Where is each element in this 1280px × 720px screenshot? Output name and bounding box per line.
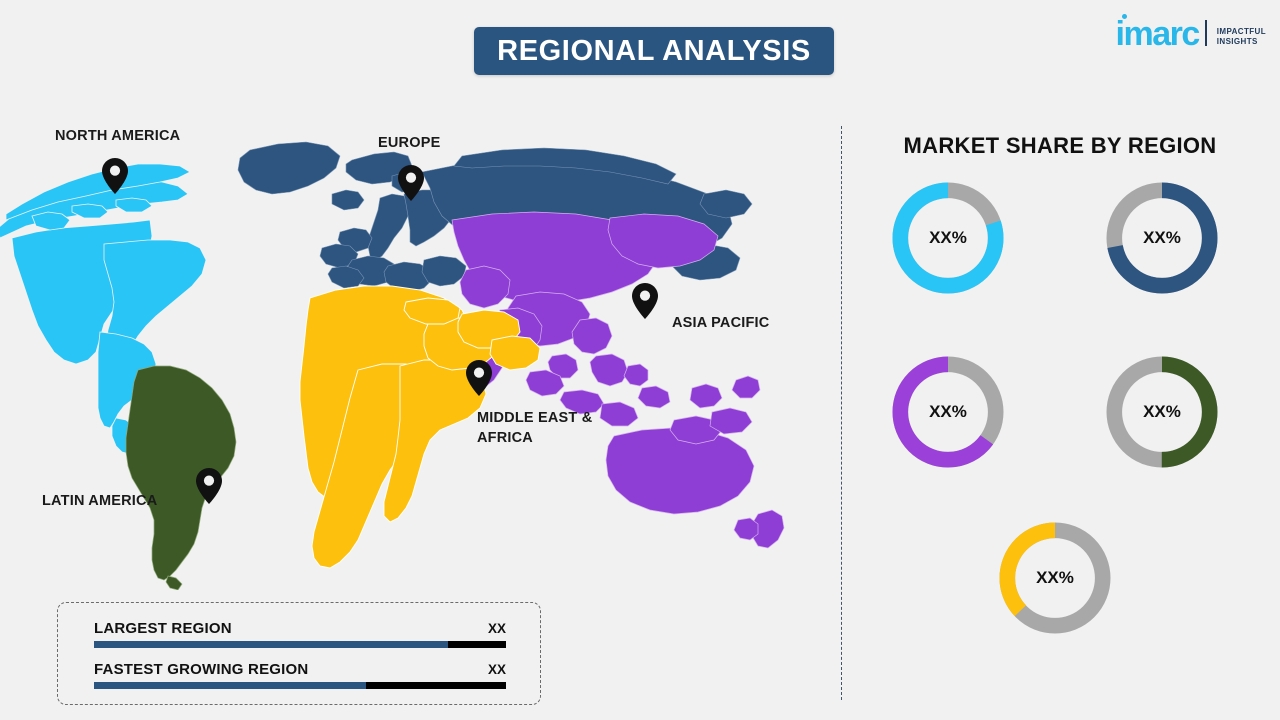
pin-europe[interactable]	[398, 165, 424, 201]
logo-tagline-line1: IMPACTFUL	[1217, 27, 1266, 36]
map-label-north-america: NORTH AMERICA	[55, 127, 180, 147]
donut-value: XX%	[1099, 349, 1225, 475]
page-title: REGIONAL ANALYSIS	[497, 35, 811, 68]
page-title-badge: REGIONAL ANALYSIS	[474, 27, 834, 75]
legend-label: LARGEST REGION	[94, 620, 232, 637]
donut-value: XX%	[992, 515, 1118, 641]
donut-latin-america: XX%	[1099, 349, 1225, 475]
legend-progress-track	[94, 682, 506, 689]
legend-progress-track	[94, 641, 506, 648]
pin-asia-pacific[interactable]	[632, 283, 658, 319]
legend-value: XX	[488, 621, 506, 636]
market-share-title: MARKET SHARE BY REGION	[888, 133, 1232, 159]
donut-value: XX%	[885, 349, 1011, 475]
logo-word-text: imarc	[1116, 15, 1199, 53]
donut-value: XX%	[885, 175, 1011, 301]
logo-tagline: IMPACTFUL INSIGHTS	[1217, 27, 1266, 49]
logo-wordmark: imarc	[1116, 20, 1199, 49]
legend-row-fastest-growing-region: FASTEST GROWING REGION XX	[94, 661, 506, 689]
logo-divider	[1205, 20, 1207, 46]
donut-middle-east-africa: XX%	[992, 515, 1118, 641]
logo-dot-icon	[1122, 14, 1127, 19]
map-label-latin-america: LATIN AMERICA	[42, 492, 157, 512]
legend-row-largest-region: LARGEST REGION XX	[94, 620, 506, 648]
legend-progress-fill	[94, 682, 366, 689]
donut-value: XX%	[1099, 175, 1225, 301]
map-label-asia-pacific: ASIA PACIFIC	[672, 314, 769, 334]
legend-label: FASTEST GROWING REGION	[94, 661, 308, 678]
legend-value: XX	[488, 662, 506, 677]
donut-asia-pacific: XX%	[885, 349, 1011, 475]
market-share-donut-grid: XX% XX% XX% XX%	[858, 175, 1270, 685]
imarc-logo: imarc IMPACTFUL INSIGHTS	[1116, 20, 1266, 49]
pin-north-america[interactable]	[102, 158, 128, 194]
donut-europe: XX%	[1099, 175, 1225, 301]
donut-north-america: XX%	[885, 175, 1011, 301]
logo-tagline-line2: INSIGHTS	[1217, 37, 1266, 46]
map-label-middle-east-africa: MIDDLE EAST & AFRICA	[477, 409, 592, 448]
legend-progress-fill	[94, 641, 448, 648]
panel-divider	[841, 126, 842, 700]
pin-latin-america[interactable]	[196, 468, 222, 504]
legend-box: LARGEST REGION XX FASTEST GROWING REGION…	[57, 602, 541, 705]
pin-middle-east-africa[interactable]	[466, 360, 492, 396]
map-label-europe: EUROPE	[378, 134, 440, 154]
